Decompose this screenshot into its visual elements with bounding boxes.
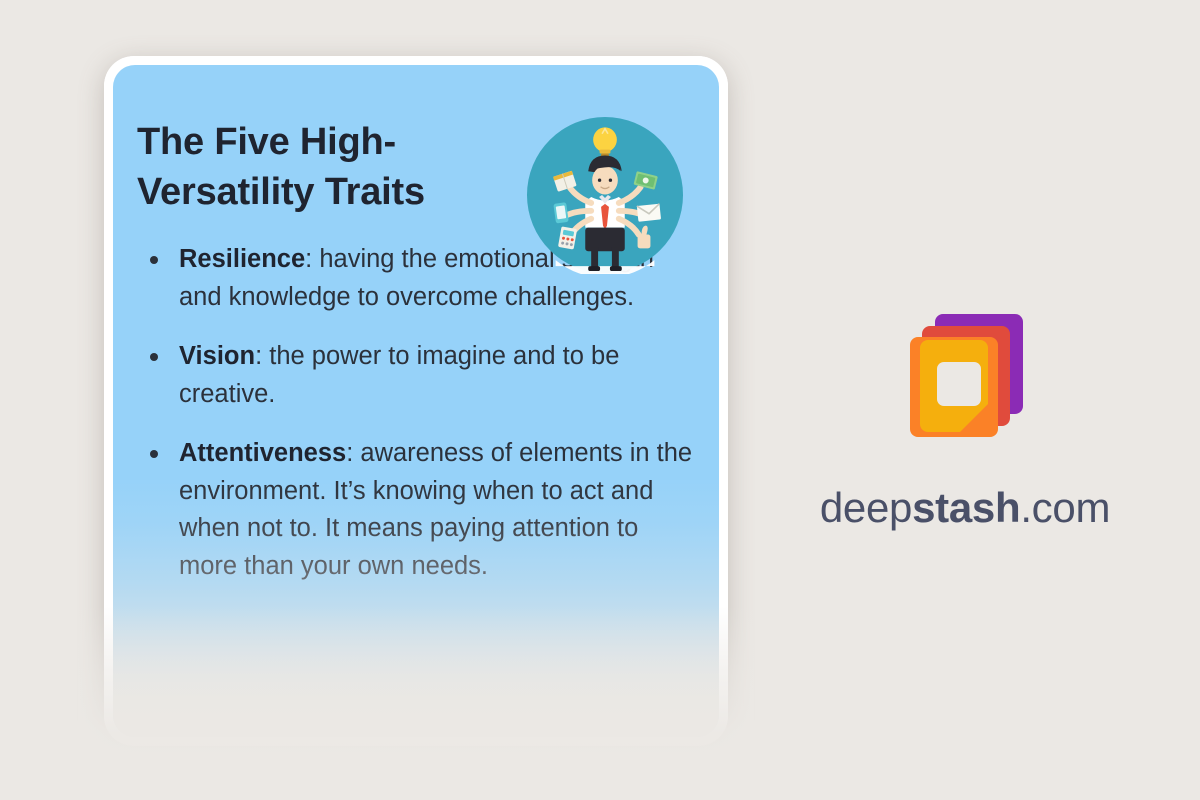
list-item: Attentiveness: awareness of elements in … [137, 435, 697, 585]
brand-wordmark: deepstash.com [800, 484, 1130, 532]
multitasking-businessman-illustration [526, 116, 684, 274]
trait-term: Attentiveness [179, 439, 346, 467]
trait-separator: : [305, 245, 319, 273]
wordmark-prefix: deep [820, 484, 912, 531]
trait-card[interactable]: The Five High-Versatility Traits Resilie… [104, 56, 728, 756]
trait-term: Resilience [179, 245, 305, 273]
trait-list: Resilience: having the emotional strengt… [137, 241, 697, 585]
page-title: The Five High-Versatility Traits [137, 117, 557, 217]
brand-block: deepstash.com [800, 300, 1130, 532]
trait-separator: : [346, 439, 360, 467]
card-body: The Five High-Versatility Traits Resilie… [113, 65, 719, 737]
page-root: The Five High-Versatility Traits Resilie… [0, 0, 1200, 800]
wordmark-suffix: .com [1020, 484, 1110, 531]
list-item: Vision: the power to imagine and to be c… [137, 338, 697, 413]
card-frame: The Five High-Versatility Traits Resilie… [104, 56, 728, 746]
wordmark-emphasis: stash [912, 484, 1020, 531]
trait-separator: : [255, 342, 269, 370]
deepstash-logo-icon [885, 300, 1045, 460]
trait-term: Vision [179, 342, 255, 370]
